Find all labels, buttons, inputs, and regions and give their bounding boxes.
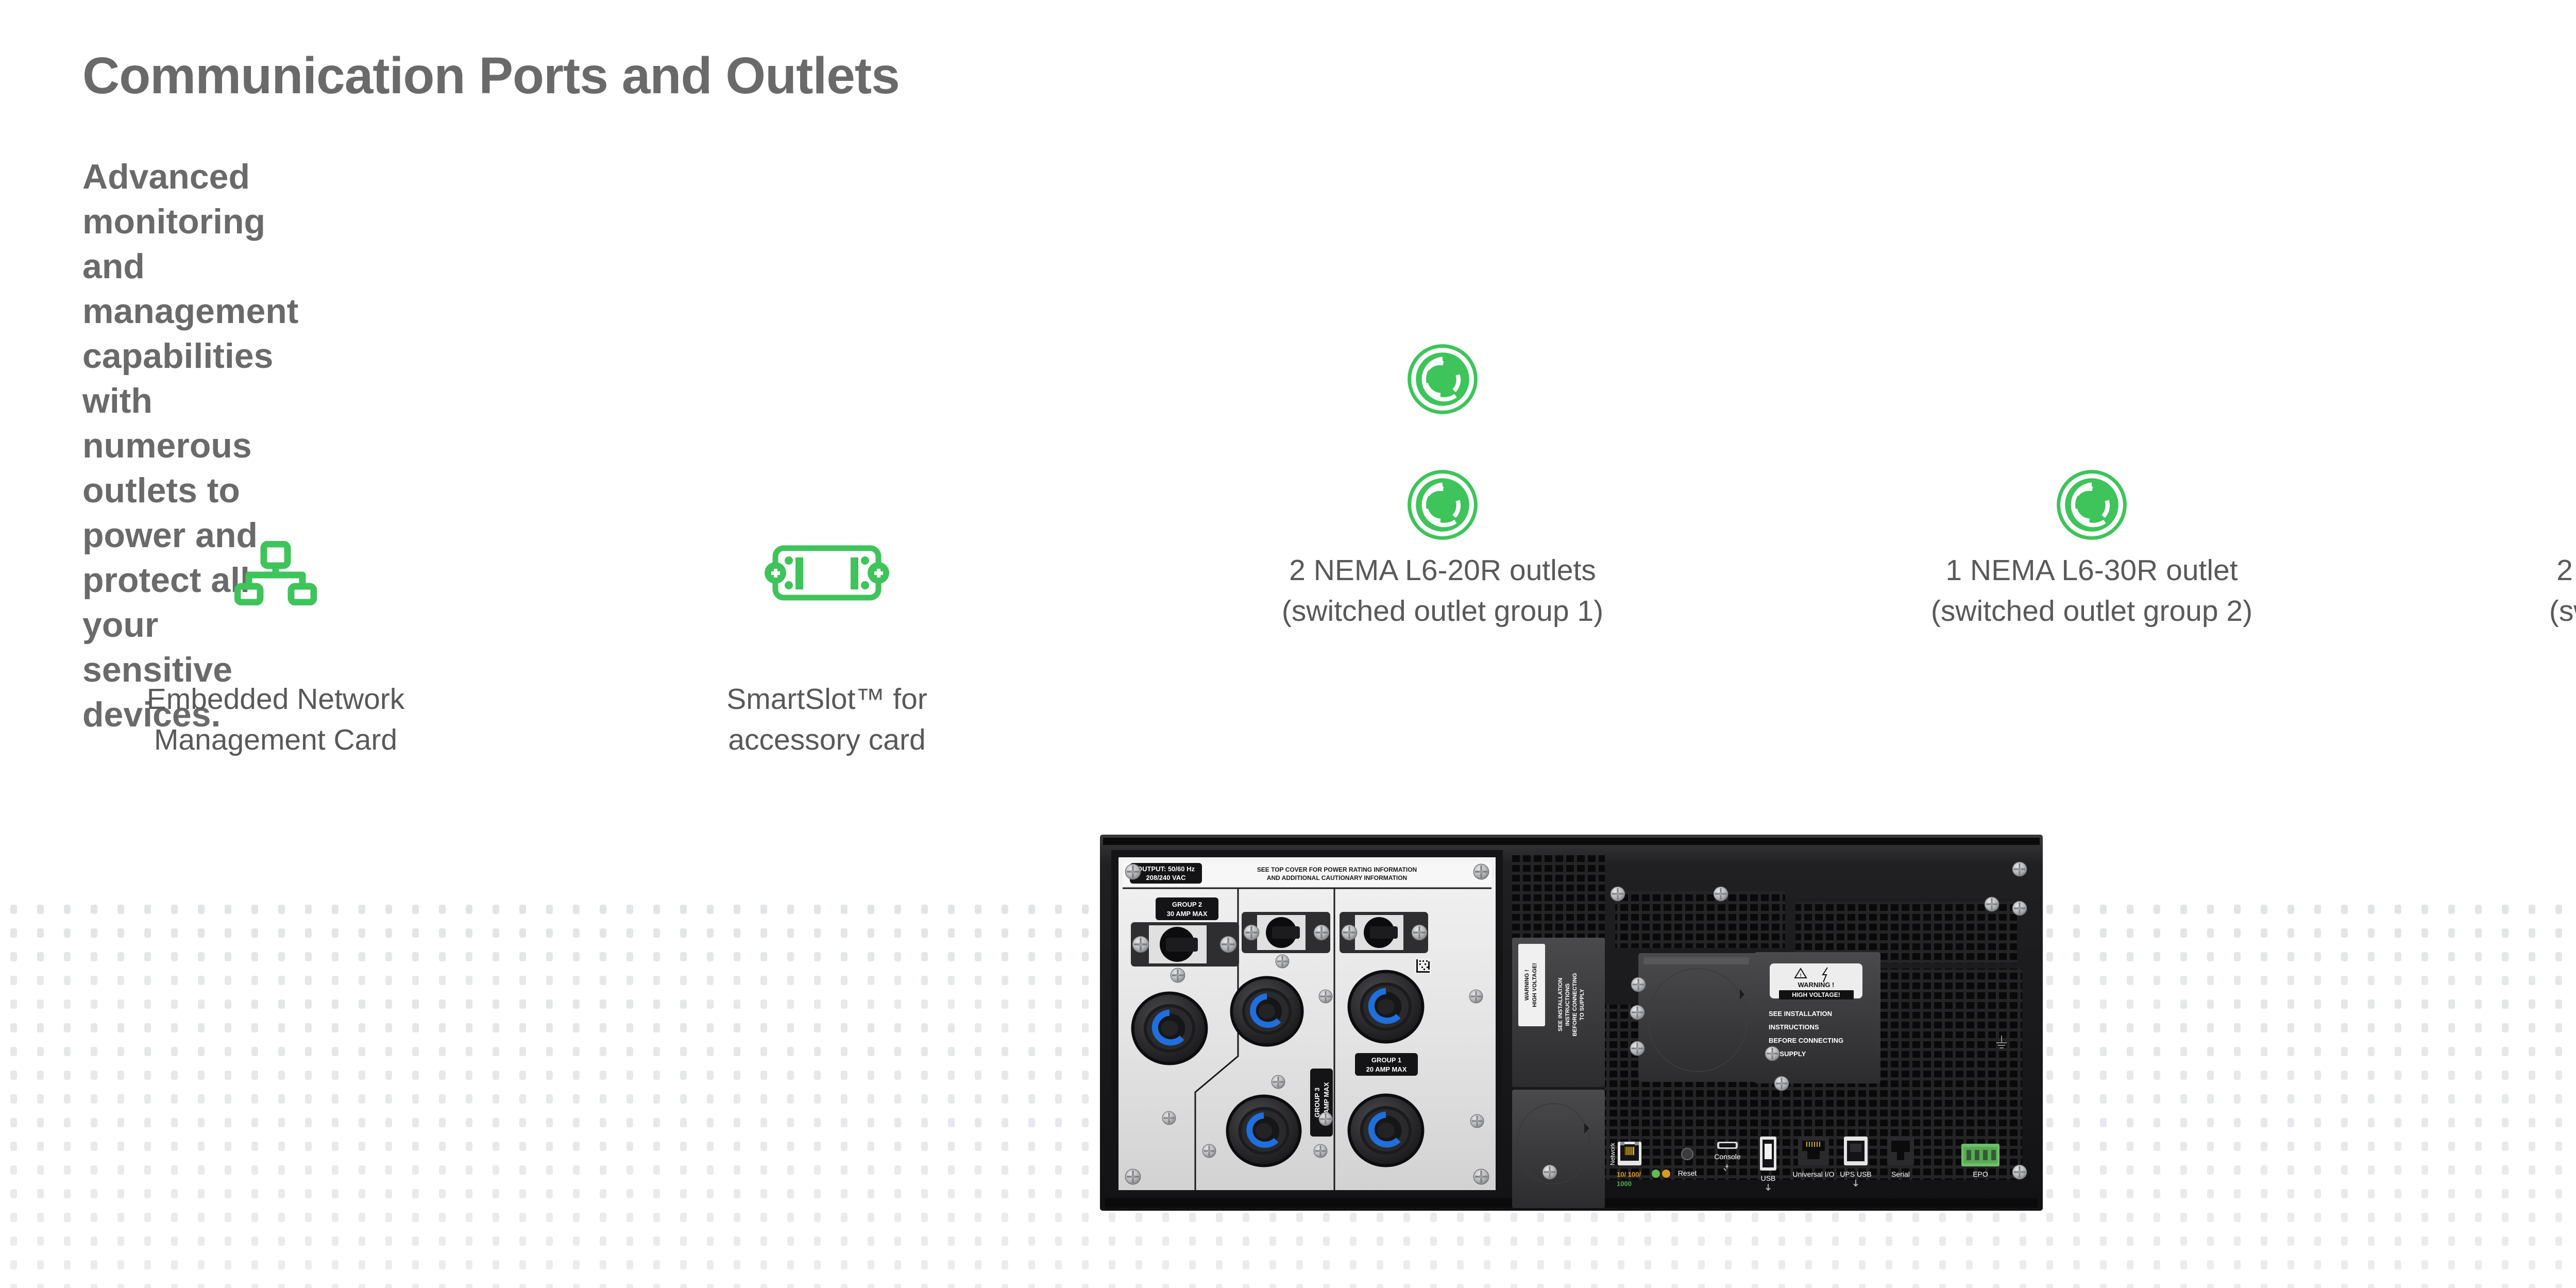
outlet-socket-group1-lower [1348, 1094, 1425, 1167]
svg-text:HIGH VOLTAGE!: HIGH VOLTAGE! [1532, 963, 1538, 1007]
outlet-socket-group3-lower [1226, 1095, 1302, 1167]
network-port [1618, 1142, 1641, 1165]
console-port [1717, 1142, 1738, 1149]
universal-io-port [1798, 1137, 1829, 1165]
feature-outlet-group-2[interactable]: 1 NEMA L6-30R outlet (switched outlet gr… [1803, 340, 2380, 631]
reset-button [1682, 1148, 1693, 1160]
feature-outlet-group-1[interactable]: 2 NEMA L6-20R outlets (switched outlet g… [1154, 340, 1731, 631]
svg-text:WARNING !: WARNING ! [1524, 970, 1530, 1001]
top-cover-note-line1: SEE TOP COVER FOR POWER RATING INFORMATI… [1257, 866, 1417, 873]
usb-port [1760, 1137, 1776, 1171]
outlet-socket-group1-upper [1348, 970, 1425, 1044]
network-port-label: Network [1609, 1142, 1616, 1165]
feature-embedded-network-card[interactable]: Embedded Network Management Card [72, 479, 479, 760]
output-freq-label: OUTPUT: 50/60 Hz [1137, 865, 1195, 873]
feature-label: 2 NEMA L6-30R outlets (switched outlet g… [2421, 550, 2576, 631]
warning-line2: HIGH VOLTAGE! [1792, 991, 1840, 998]
ups-usb-port [1844, 1137, 1868, 1165]
svg-text:BEFORE CONNECTING: BEFORE CONNECTING [1572, 973, 1578, 1037]
output-voltage-label: 208/240 VAC [1146, 874, 1186, 882]
outlet-socket-group2 [1131, 992, 1208, 1065]
group1-label-line2: 20 AMP MAX [1366, 1065, 1407, 1073]
svg-text:TO SUPPLY: TO SUPPLY [1579, 989, 1585, 1021]
group1-label-line1: GROUP 1 [1371, 1056, 1401, 1064]
install-line3: BEFORE CONNECTING [1769, 1037, 1843, 1044]
install-line1: SEE INSTALLATION [1769, 1010, 1832, 1018]
epo-label: EPO [1973, 1170, 1988, 1178]
twist-lock-outlet-icon [1406, 469, 1479, 541]
top-cover-note-line2: AND ADDITIONAL CAUTIONARY INFORMATION [1267, 874, 1407, 882]
svg-text:INSTRUCTIONS: INSTRUCTIONS [1565, 984, 1571, 1026]
network-speed-label-1: 10/ 100/ [1617, 1171, 1641, 1178]
svg-text:!: ! [1800, 973, 1802, 978]
universal-io-label: Universal I/O [1793, 1170, 1835, 1178]
outlet-socket-group3-upper [1230, 976, 1303, 1046]
feature-label: SmartSlot™ for accessory card [623, 679, 1030, 760]
network-speed-label-2: 1000 [1617, 1180, 1632, 1188]
smartslot-card-icon [760, 541, 894, 608]
ups-usb-label: UPS USB [1840, 1170, 1871, 1178]
reset-label: Reset [1678, 1169, 1697, 1177]
serial-label: Serial [1891, 1170, 1910, 1178]
console-label: Console [1714, 1153, 1741, 1161]
epo-port [1961, 1144, 1999, 1166]
warning-module-left: WARNING ! HIGH VOLTAGE! SEE INSTALLATION… [1512, 938, 1605, 1208]
network-hierarchy-icon [234, 541, 317, 608]
feature-smartslot[interactable]: SmartSlot™ for accessory card [623, 479, 1030, 760]
feature-label: 2 NEMA L6-20R outlets (switched outlet g… [1154, 550, 1731, 631]
group2-label-line1: GROUP 2 [1172, 901, 1202, 908]
twist-lock-outlet-icon [1406, 343, 1479, 415]
group3-label-line1: GROUP 3 [1313, 1088, 1321, 1117]
install-line2: INSTRUCTIONS [1769, 1023, 1819, 1031]
feature-row: Embedded Network Management Card [0, 0, 2576, 783]
serial-port [1887, 1137, 1914, 1165]
warning-module-right: ! WARNING ! HIGH VOLTAGE! SEE INSTALLATI… [1754, 952, 1880, 1083]
svg-text:SEE INSTALLATION: SEE INSTALLATION [1557, 978, 1564, 1031]
group2-label-line2: 30 AMP MAX [1167, 910, 1208, 918]
feature-label: 1 NEMA L6-30R outlet (switched outlet gr… [1803, 550, 2380, 631]
accessory-card-module [1638, 953, 1757, 1082]
twist-lock-outlet-icon [2056, 469, 2128, 541]
feature-outlet-group-3[interactable]: 2 NEMA L6-30R outlets (switched outlet g… [2421, 340, 2576, 631]
datamatrix-code [1415, 958, 1431, 974]
warning-line1: WARNING ! [1798, 981, 1835, 989]
feature-label: Embedded Network Management Card [72, 679, 479, 760]
usb-label: USB [1761, 1174, 1776, 1182]
ups-rear-panel-image: OUTPUT: 50/60 Hz 208/240 VAC SEE TOP COV… [1100, 835, 2043, 1211]
